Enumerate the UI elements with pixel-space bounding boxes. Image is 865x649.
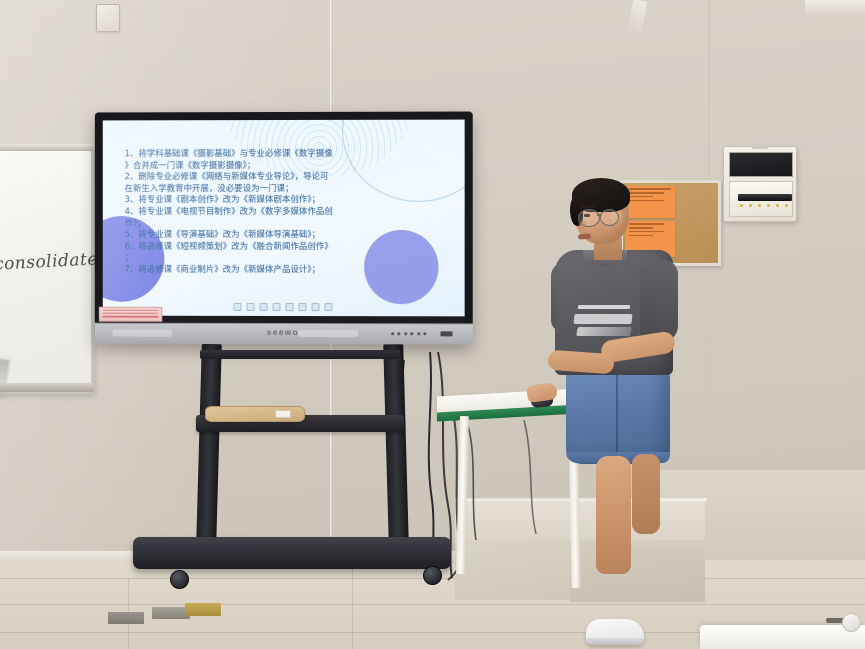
status-led bbox=[417, 332, 420, 335]
display-warning-label bbox=[99, 307, 163, 322]
cart-crossbar bbox=[200, 350, 400, 359]
notice-text-line bbox=[629, 223, 664, 224]
breaker-indicators bbox=[740, 204, 788, 207]
electrical-panel-box[interactable] bbox=[723, 146, 797, 222]
notice-text-line bbox=[629, 196, 653, 197]
status-led bbox=[397, 332, 400, 335]
floor-outlet-plate-1 bbox=[108, 612, 144, 624]
shirt-graphic-print bbox=[574, 305, 638, 339]
panel-latch[interactable] bbox=[752, 144, 768, 149]
shorts-seam bbox=[616, 372, 618, 456]
notice-text-line bbox=[629, 235, 653, 236]
notice-text-line bbox=[629, 227, 653, 228]
cart-caster-right bbox=[423, 566, 442, 585]
furniture-knob[interactable] bbox=[842, 613, 861, 632]
photo-scene: consolidate bbox=[0, 0, 865, 649]
stage-platform-edge bbox=[455, 498, 707, 501]
white-furniture bbox=[700, 625, 865, 649]
whiteboard-tray bbox=[0, 383, 94, 392]
shorts bbox=[566, 368, 670, 464]
shirt-sleeve-right bbox=[640, 260, 678, 342]
wall-light-switch[interactable] bbox=[96, 4, 120, 32]
panel-breaker-area bbox=[729, 181, 793, 217]
nose bbox=[578, 221, 586, 233]
breaker-indicator bbox=[740, 204, 743, 207]
notice-text-line bbox=[629, 188, 671, 189]
sneaker-sole bbox=[586, 638, 644, 645]
leg-back bbox=[632, 454, 660, 534]
brand-label: seewo bbox=[267, 328, 299, 337]
notice-text-line bbox=[629, 200, 664, 201]
seewo-interactive-display[interactable]: 1、将学科基础课《摄影基础》与专业必修课《数字摄像 》合并成一门课《数字摄影摄像… bbox=[95, 112, 473, 345]
floor-tile-line bbox=[0, 604, 865, 605]
floor-outlet-brass-plate bbox=[185, 603, 221, 616]
leg-front bbox=[596, 456, 631, 574]
display-chin-bar: seewo bbox=[95, 323, 473, 345]
breaker-indicator bbox=[758, 204, 761, 207]
status-led bbox=[391, 332, 394, 335]
display-status-leds bbox=[391, 332, 427, 335]
notice-text-line bbox=[629, 231, 664, 232]
breaker-switch-row[interactable] bbox=[738, 194, 792, 201]
floor-tile-line bbox=[352, 560, 353, 649]
orange-notice-top bbox=[625, 186, 675, 218]
breaker-indicator bbox=[749, 204, 752, 207]
breaker-indicator bbox=[785, 204, 788, 207]
glasses-bridge bbox=[597, 214, 601, 216]
display-usb-port[interactable] bbox=[440, 331, 452, 336]
chin-vent-left bbox=[113, 330, 173, 337]
glasses-lens-right bbox=[600, 209, 619, 226]
cart-base bbox=[133, 537, 451, 569]
status-led bbox=[410, 332, 413, 335]
notice-text-line bbox=[629, 192, 664, 193]
ceiling-edge bbox=[805, 0, 865, 16]
breaker-indicator bbox=[767, 204, 770, 207]
status-led bbox=[404, 332, 407, 335]
panel-window bbox=[729, 152, 793, 177]
breaker-indicator bbox=[776, 204, 779, 207]
label-text-line bbox=[103, 309, 159, 311]
status-led bbox=[423, 332, 426, 335]
cart-caster-left bbox=[170, 570, 189, 589]
whiteboard-frame-top bbox=[0, 144, 94, 151]
label-text-line bbox=[103, 316, 159, 318]
label-text-line bbox=[103, 312, 159, 314]
stage-platform-top bbox=[455, 500, 705, 540]
chin-vent-right bbox=[298, 330, 358, 337]
cart-shelf-tray-label bbox=[275, 410, 291, 418]
